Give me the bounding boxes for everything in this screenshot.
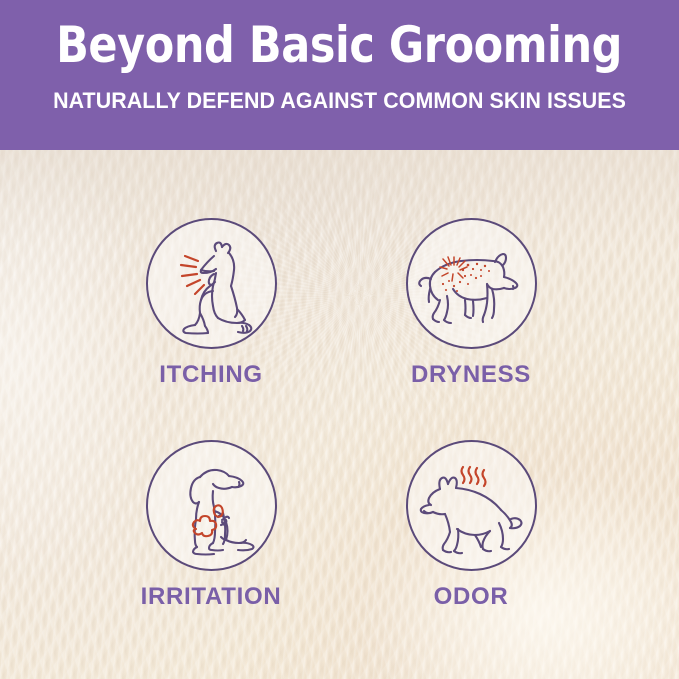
item-label-itching: ITCHING [111, 363, 311, 387]
grid-item-dryness: DRYNESS [371, 218, 571, 387]
grid-item-itching: ITCHING [111, 218, 311, 387]
grid-item-odor: ODOR [371, 440, 571, 609]
icon-circle-irritation [146, 440, 277, 571]
promo-poster: Beyond Basic Grooming NATURALLY DEFEND A… [0, 0, 679, 679]
item-label-odor: ODOR [371, 585, 571, 609]
header-band: Beyond Basic Grooming NATURALLY DEFEND A… [0, 0, 679, 150]
odor-wavy-lines [462, 467, 486, 486]
page-subtitle: NATURALLY DEFEND AGAINST COMMON SKIN ISS… [53, 90, 626, 113]
itch-lines [181, 256, 204, 294]
item-label-dryness: DRYNESS [371, 363, 571, 387]
icon-circle-dryness [406, 218, 537, 349]
dog-odor-icon [413, 451, 529, 561]
dog-scratching-icon [156, 229, 266, 339]
item-label-irritation: IRRITATION [111, 585, 311, 609]
skin-issue-grid: ITCHING [0, 150, 679, 679]
dog-sitting-irritated-patch-icon [156, 451, 266, 561]
dog-flaky-skin-icon [413, 229, 529, 339]
grid-item-irritation: IRRITATION [111, 440, 311, 609]
icon-circle-odor [406, 440, 537, 571]
icon-circle-itching [146, 218, 277, 349]
page-title: Beyond Basic Grooming [57, 20, 623, 70]
